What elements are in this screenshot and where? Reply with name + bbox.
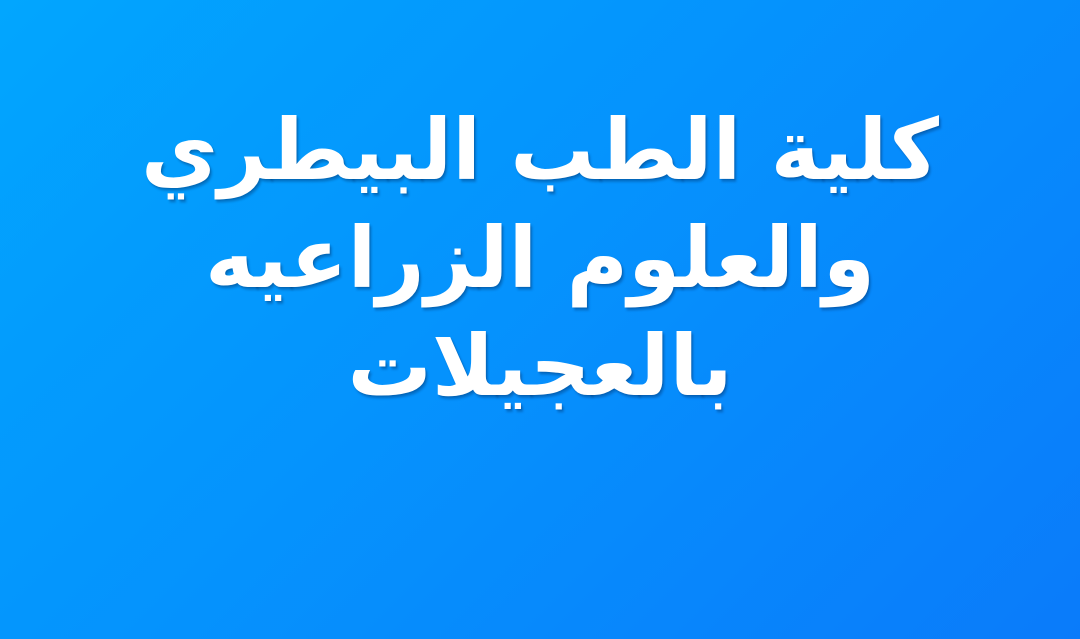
- banner-canvas: كلية الطب البيطري والعلوم الزراعيه بالعج…: [0, 0, 1080, 639]
- headline-line-1: كلية الطب البيطري: [0, 96, 1080, 204]
- headline-line-3: بالعجيلات: [0, 312, 1080, 420]
- headline-block: كلية الطب البيطري والعلوم الزراعيه بالعج…: [0, 96, 1080, 420]
- headline-line-2: والعلوم الزراعيه: [0, 204, 1080, 312]
